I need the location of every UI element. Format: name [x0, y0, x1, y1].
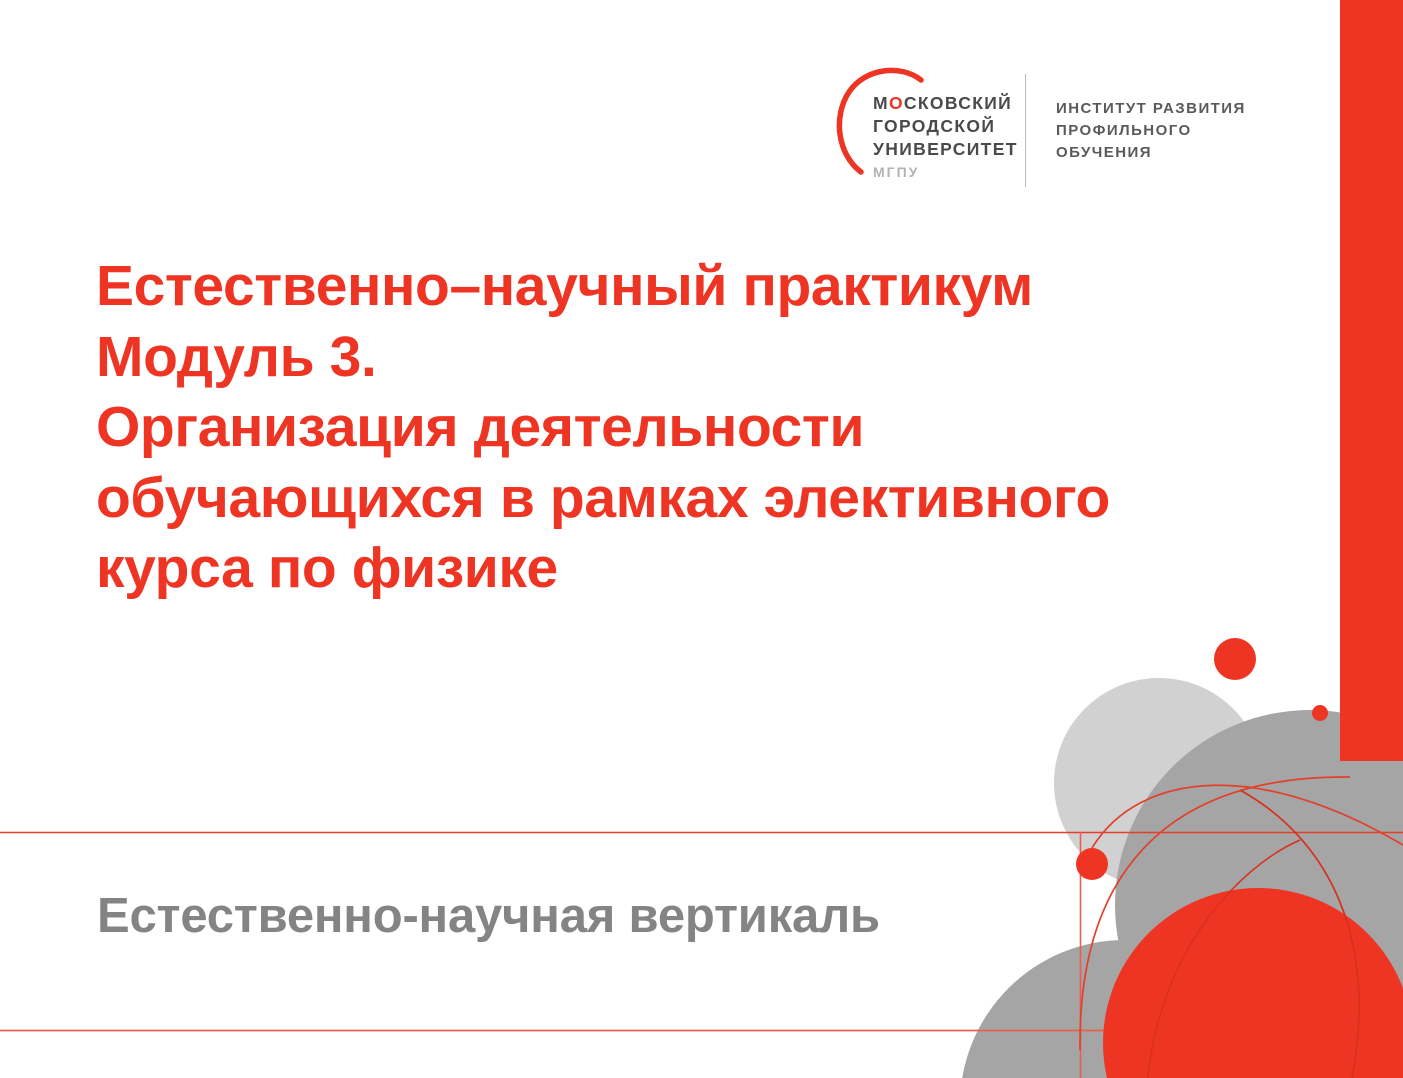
red-dot-small [1312, 705, 1328, 721]
logo-line-moskovskiy: МОСКОВСКИЙ [873, 92, 1018, 115]
red-dot-large [1214, 638, 1256, 680]
logo-divider [1025, 74, 1026, 187]
logo-institute-line-1: ИНСТИТУТ РАЗВИТИЯ [1056, 98, 1246, 120]
title-line-4: обучающихся в рамках элективного [96, 463, 1276, 534]
logo-line-universitet: УНИВЕРСИТЕТ [873, 138, 1018, 161]
title-line-3: Организация деятельности [96, 392, 1276, 463]
logo-institute-line-3: ОБУЧЕНИЯ [1056, 142, 1246, 164]
logo-line-gorodskoy: ГОРОДСКОЙ [873, 115, 1018, 138]
page-title: Естественно–научный практикум Модуль 3. … [96, 251, 1276, 604]
logo-institute-line-2: ПРОФИЛЬНОГО [1056, 120, 1246, 142]
logo-institute-block: ИНСТИТУТ РАЗВИТИЯ ПРОФИЛЬНОГО ОБУЧЕНИЯ [1056, 98, 1246, 163]
logo-block: МОСКОВСКИЙ ГОРОДСКОЙ УНИВЕРСИТЕТ МГПУ ИН… [833, 58, 1313, 194]
logo-abbreviation: МГПУ [873, 163, 1018, 181]
title-line-2: Модуль 3. [96, 322, 1276, 393]
right-red-bar [1340, 0, 1403, 761]
page-subtitle: Естественно-научная вертикаль [97, 888, 880, 944]
red-dot-medium [1076, 848, 1108, 880]
title-line-1: Естественно–научный практикум [96, 251, 1276, 322]
title-line-5: курса по физике [96, 533, 1276, 604]
slide-canvas: МОСКОВСКИЙ ГОРОДСКОЙ УНИВЕРСИТЕТ МГПУ ИН… [0, 0, 1403, 1078]
logo-university-block: МОСКОВСКИЙ ГОРОДСКОЙ УНИВЕРСИТЕТ МГПУ [833, 58, 1025, 194]
logo-university-words: МОСКОВСКИЙ ГОРОДСКОЙ УНИВЕРСИТЕТ МГПУ [873, 92, 1018, 181]
